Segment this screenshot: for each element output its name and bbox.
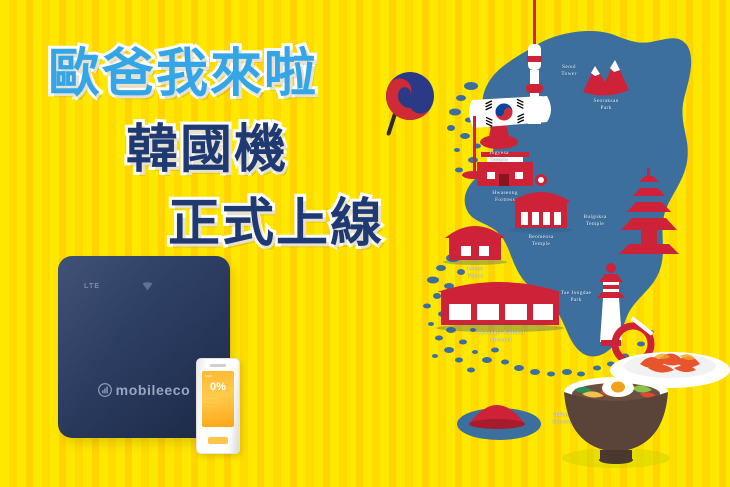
map-label-tae-jongdae-park: Tae Jongdae Park	[545, 290, 607, 304]
bibimbap-bowl-icon	[562, 377, 670, 468]
taegeuk-fan-icon	[378, 66, 438, 138]
map-label-bulguksa-temple: Bulguksa Temple	[567, 214, 623, 228]
korean-food-illustration	[548, 330, 730, 487]
handset-screen-sub3: - - - - - - -	[205, 404, 231, 408]
router-indicators: LTE	[84, 282, 204, 291]
map-label-jeonju-hanok: Jeonju Hanok	[449, 266, 501, 280]
handset-speaker	[210, 364, 226, 367]
handset-button[interactable]	[208, 437, 228, 444]
map-label-jogyesa-temple: Jogyesa Temple	[473, 150, 525, 164]
map-label-seoul-tower: Seoul Tower	[545, 64, 593, 78]
map-label-beomeosa-temple: Beomeosa Temple	[515, 234, 567, 248]
map-label-seoraksan-park: Seoraksan Park	[578, 98, 634, 112]
lte-label: LTE	[84, 283, 100, 290]
handset-screen-top: SSID	[205, 374, 231, 378]
food-svg	[548, 330, 730, 487]
router-brand-text: mobileeco	[116, 382, 191, 398]
handset-screen-value: 0%	[205, 381, 231, 393]
handset-screen: SSID 0% - - - - - - - - - - - - - - - - …	[202, 371, 234, 427]
wifi-icon	[142, 282, 153, 291]
hallasan-mountain-icon	[469, 405, 525, 429]
map-label-gyeongju-museum: Gyeongju National Museum	[453, 330, 549, 344]
pocket-wifi-handset[interactable]: SSID 0% - - - - - - - - - - - - - - - - …	[196, 358, 240, 454]
promo-banner: Seoul Tower Seoraksan Park Jogyesa Templ…	[0, 0, 730, 487]
map-label-hwaseong-fortress: Hwaseong Fortress	[477, 190, 533, 204]
headline-line-3: 正式上線	[0, 198, 450, 250]
mobileeco-logo-icon	[98, 383, 112, 397]
